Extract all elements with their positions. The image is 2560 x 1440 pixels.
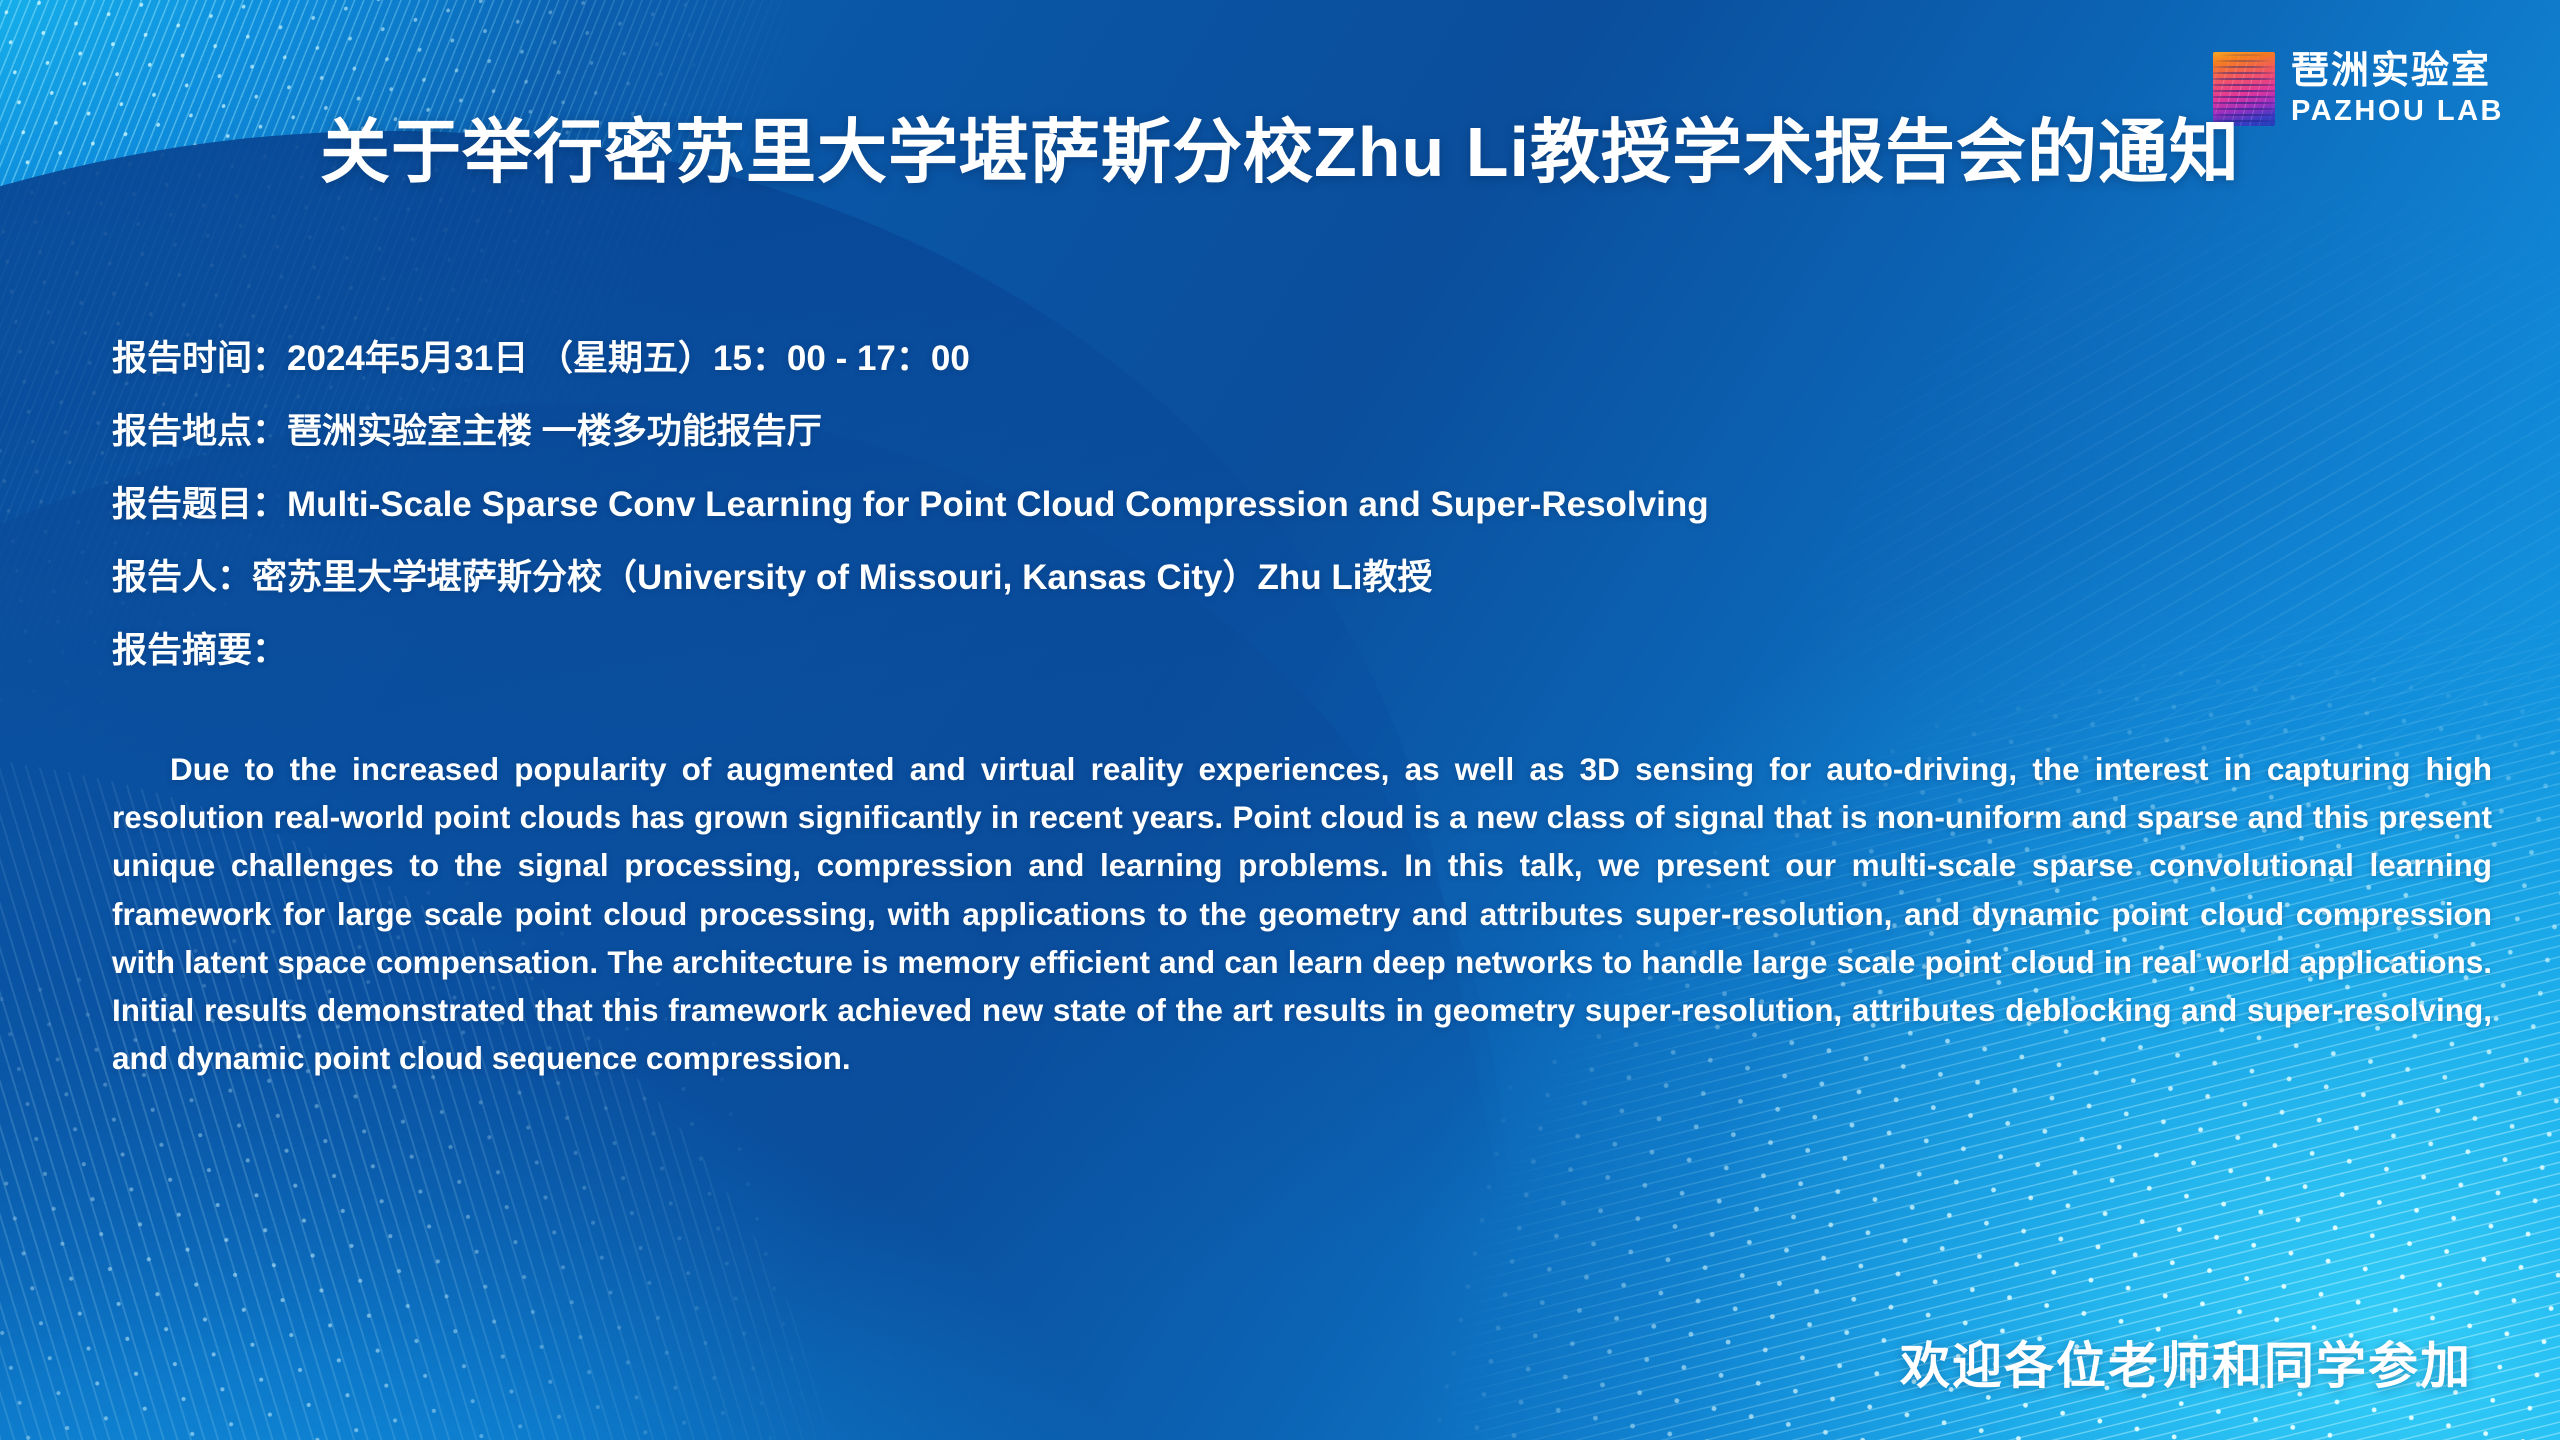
info-value-time: 2024年5月31日 （星期五）15：00 - 17：00 [287, 330, 970, 381]
info-label-location: 报告地点： [112, 403, 287, 454]
info-block: 报告时间： 2024年5月31日 （星期五）15：00 - 17：00 报告地点… [112, 330, 2450, 695]
info-label-topic: 报告题目： [112, 476, 287, 527]
info-value-topic: Multi-Scale Sparse Conv Learning for Poi… [287, 485, 1709, 525]
info-value-speaker: 密苏里大学堪萨斯分校（University of Missouri, Kansa… [252, 549, 1432, 600]
logo-name-cn: 琶洲实验室 [2291, 52, 2504, 90]
abstract-paragraph: Due to the increased popularity of augme… [112, 745, 2492, 1082]
info-value-location: 琶洲实验室主楼 一楼多功能报告厅 [287, 403, 822, 454]
info-row-location: 报告地点： 琶洲实验室主楼 一楼多功能报告厅 [112, 403, 2450, 454]
poster-canvas: 琶洲实验室 PAZHOU LAB 关于举行密苏里大学堪萨斯分校Zhu Li教授学… [0, 0, 2560, 1440]
info-row-time: 报告时间： 2024年5月31日 （星期五）15：00 - 17：00 [112, 330, 2450, 381]
info-row-topic: 报告题目： Multi-Scale Sparse Conv Learning f… [112, 476, 2450, 527]
abstract-text: Due to the increased popularity of augme… [112, 751, 2492, 1076]
info-row-speaker: 报告人： 密苏里大学堪萨斯分校（University of Missouri, … [112, 549, 2450, 600]
info-label-time: 报告时间： [112, 330, 287, 381]
welcome-footer: 欢迎各位老师和同学参加 [1900, 1326, 2472, 1398]
page-title: 关于举行密苏里大学堪萨斯分校Zhu Li教授学术报告会的通知 [0, 96, 2560, 197]
info-row-abstract-heading: 报告摘要： [112, 622, 2450, 673]
info-label-speaker: 报告人： [112, 549, 252, 600]
info-label-abstract: 报告摘要： [112, 622, 287, 673]
